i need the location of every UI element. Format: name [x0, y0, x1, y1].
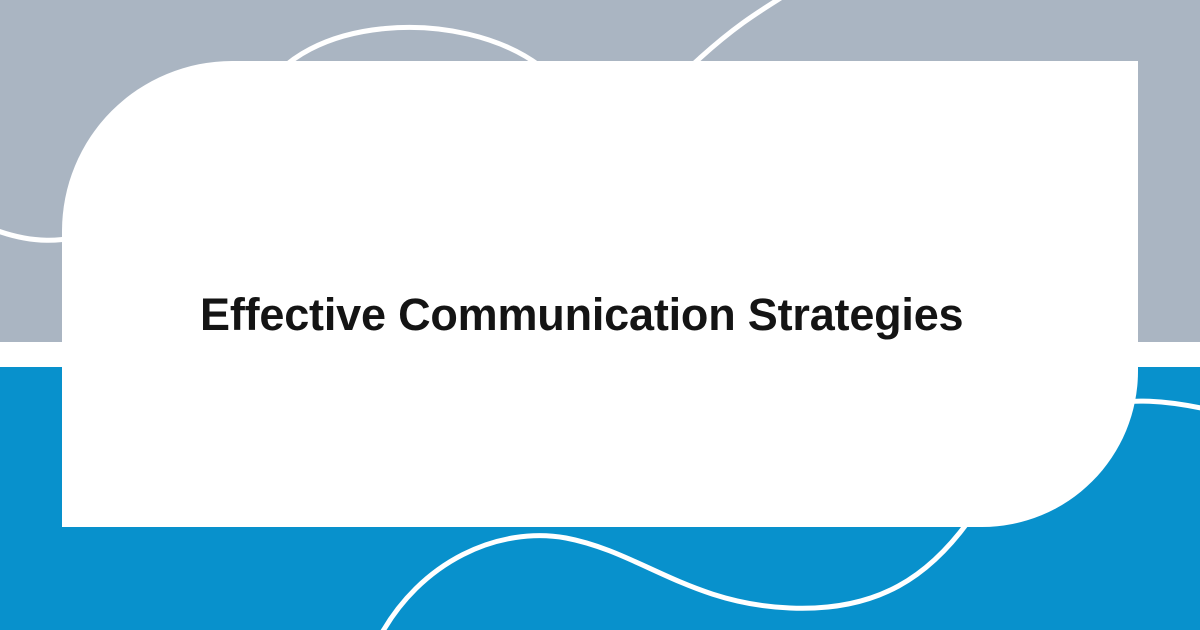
banner-canvas: Effective Communication Strategies [0, 0, 1200, 630]
page-title-container: Effective Communication Strategies [200, 283, 1100, 347]
page-title: Effective Communication Strategies [200, 291, 963, 338]
